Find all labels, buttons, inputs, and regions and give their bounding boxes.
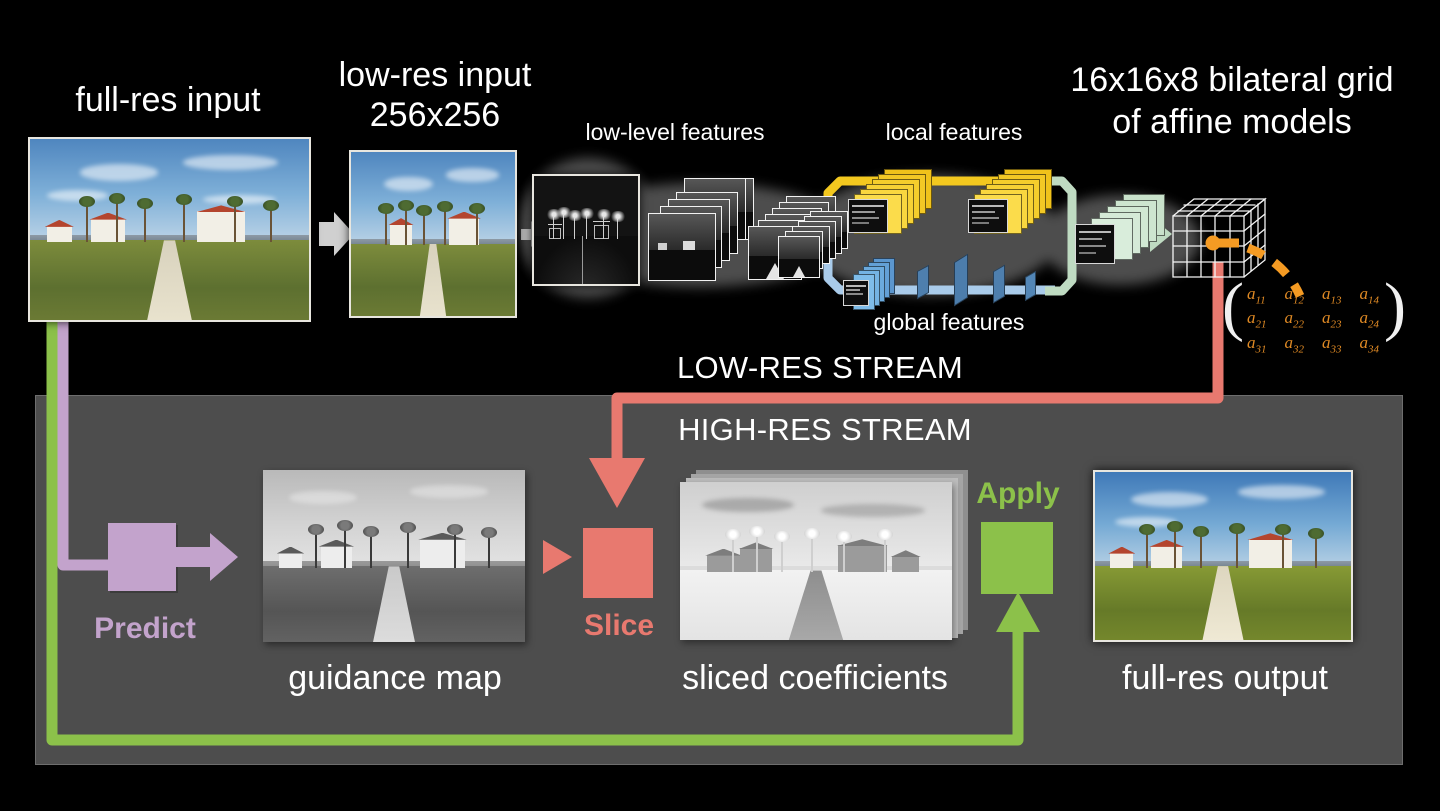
full-res-output-image xyxy=(1093,470,1353,642)
full-res-output-label: full-res output xyxy=(1085,660,1365,697)
guidance-map-image xyxy=(263,470,525,642)
slice-block xyxy=(583,528,653,598)
low-res-stream-label: LOW-RES STREAM xyxy=(640,351,1000,384)
slice-label: Slice xyxy=(558,610,680,642)
sliced-coefficients-stack xyxy=(680,470,970,640)
high-res-stream-label: HIGH-RES STREAM xyxy=(645,413,1005,446)
guidance-map-label: guidance map xyxy=(255,660,535,697)
sliced-coefficients-image xyxy=(680,482,952,640)
sliced-coefficients-label: sliced coefficients xyxy=(655,660,975,697)
global-features-label: global features xyxy=(840,310,1058,335)
low-res-input-label-line1: low-res input xyxy=(310,57,560,94)
bilateral-grid-label-line1: 16x16x8 bilateral grid xyxy=(1030,62,1434,99)
bilateral-grid-label-line2: of affine models xyxy=(1030,104,1434,141)
salmon-arrow-icon-2 xyxy=(543,540,572,574)
low-res-input-label-line2: 256x256 xyxy=(310,97,560,134)
apply-label: Apply xyxy=(955,478,1081,510)
purple-arrow-icon xyxy=(176,533,238,581)
full-res-input-label: full-res input xyxy=(22,82,314,119)
apply-block xyxy=(981,522,1053,594)
figure-canvas: ( a11 a12 a13 a14 a21 a22 a23 a24 a31 a3… xyxy=(0,0,1440,811)
predict-label: Predict xyxy=(80,613,210,645)
low-level-features-label: low-level features xyxy=(540,120,810,145)
